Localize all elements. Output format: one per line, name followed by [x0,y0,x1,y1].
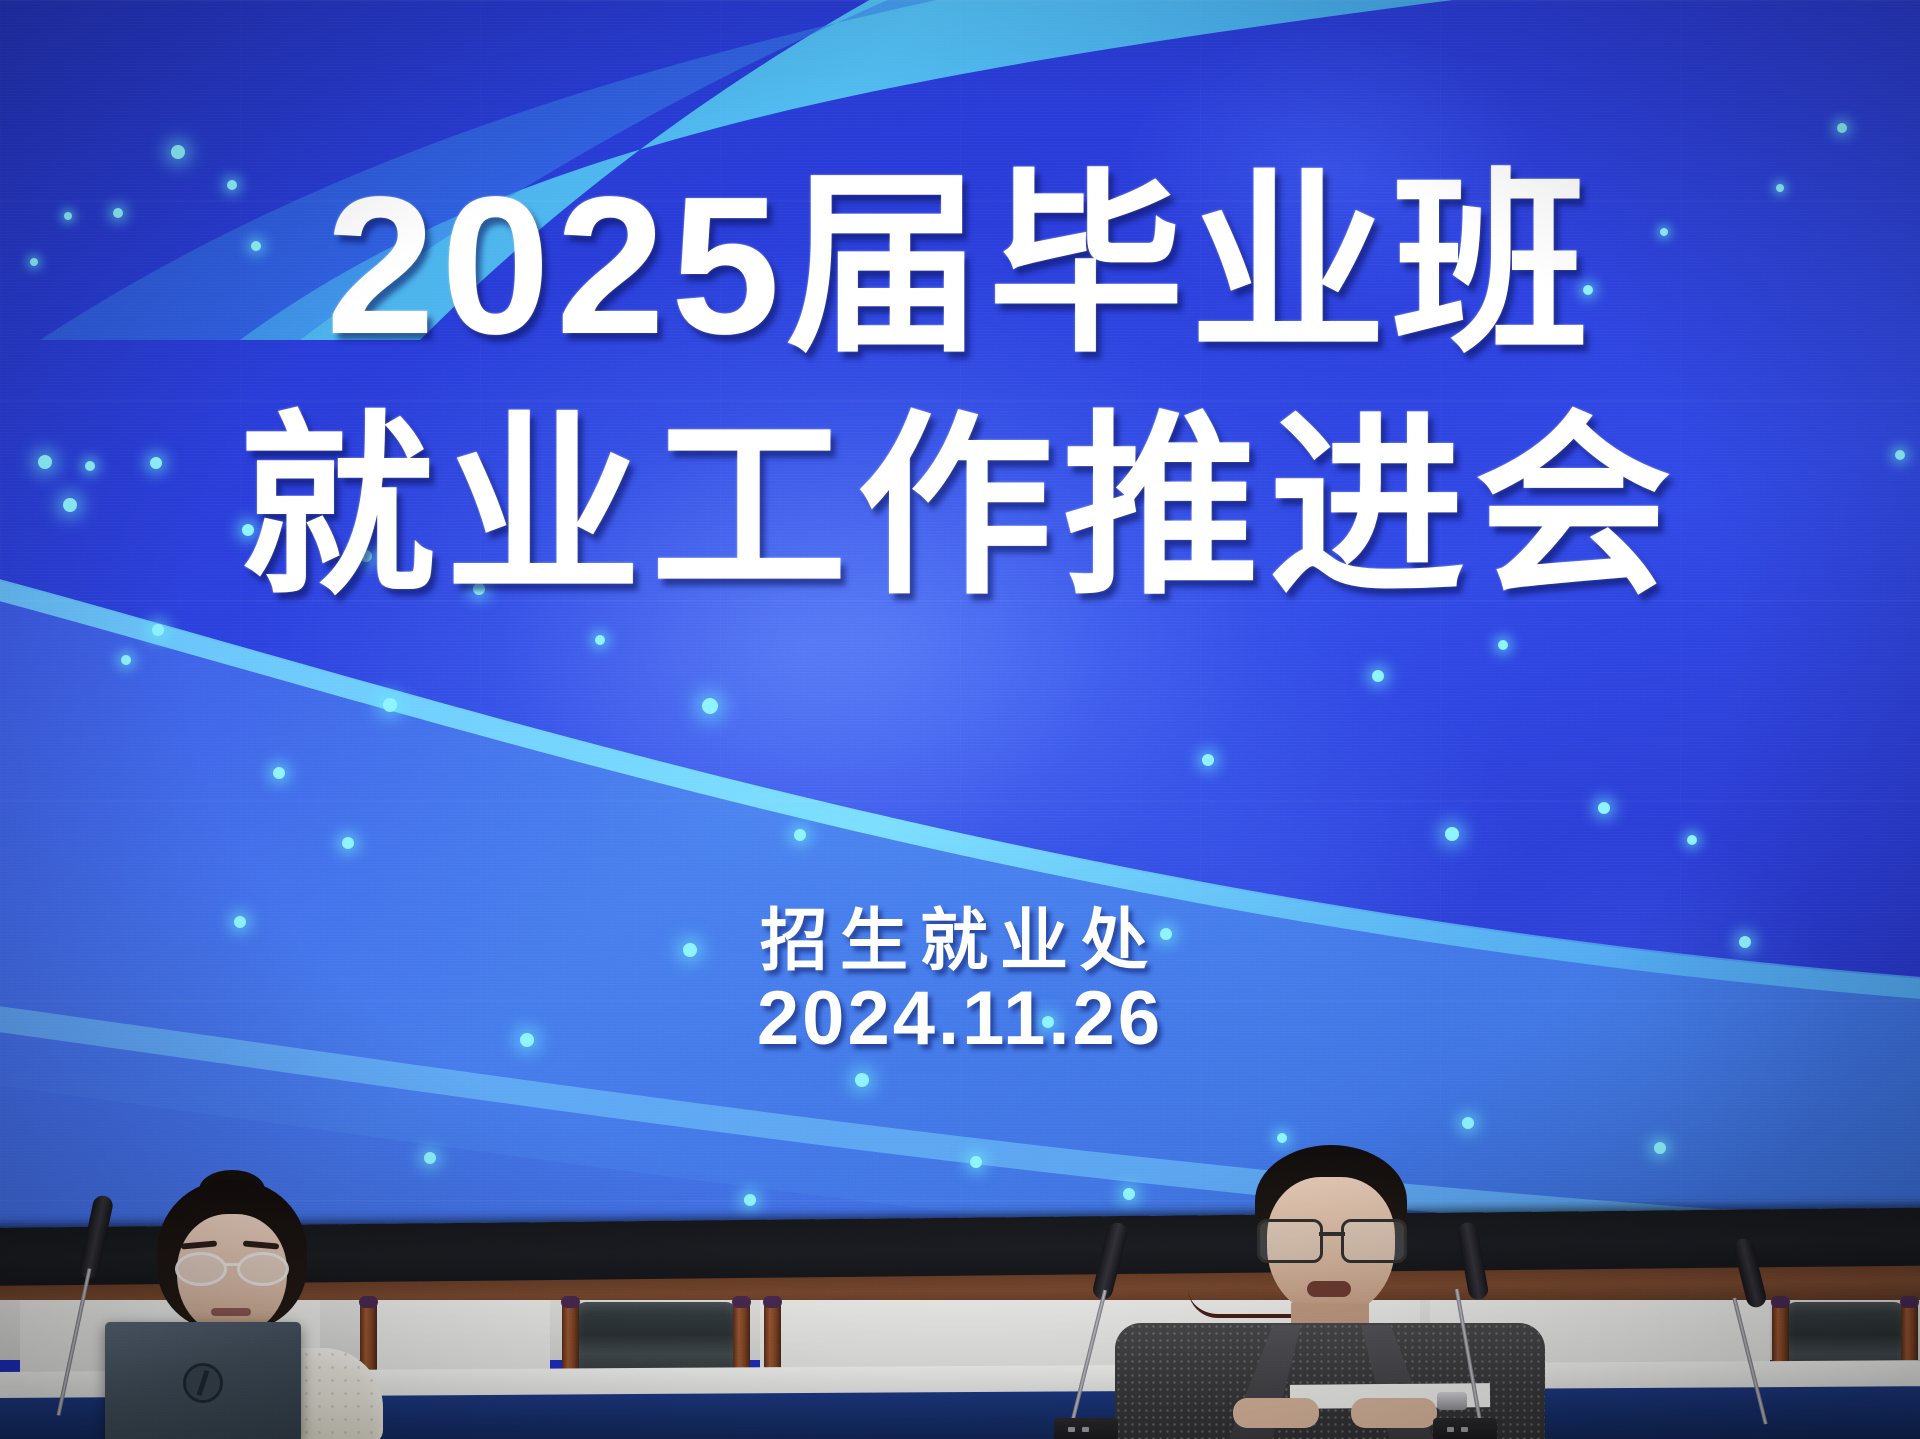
lens-right [1341,1219,1407,1263]
microphone-left-edge [30,1195,150,1439]
screen-title-block: 2025届毕业班 就业工作推进会 招生就业处 2024.11.26 [0,0,1920,1248]
lens-left [175,1252,227,1286]
lens-right [237,1252,289,1286]
subtitle-date: 2024.11.26 [0,975,1920,1062]
chair-frame-cap [732,1296,751,1308]
mouth [1307,1281,1351,1297]
hand-left [1233,1398,1319,1428]
mic-stem [56,1268,91,1416]
mic-stem [1455,1289,1484,1430]
mic-head [1456,1221,1489,1301]
mic-base [1433,1418,1497,1439]
mic-indicator-icon [1082,1427,1089,1432]
eyeglasses [1257,1219,1407,1259]
mic-head [77,1194,114,1280]
photograph-canvas: 2025届毕业班 就业工作推进会 招生就业处 2024.11.26 [0,0,1920,1439]
mic-stem [1732,1297,1767,1424]
mic-indicator-icon [1068,1427,1075,1432]
title-line-1: 2025届毕业班 [0,168,1920,364]
mic-indicator-icon [1447,1427,1454,1432]
mic-base [1054,1418,1118,1439]
microphone-speaker-left [1042,1222,1182,1439]
subtitle-organization: 招生就业处 [0,885,1920,984]
glasses-bridge [1319,1232,1345,1236]
mic-head [1732,1237,1768,1310]
glasses-bridge [225,1263,241,1266]
mic-indicator-icon [1461,1427,1468,1432]
mic-stem [1069,1290,1107,1429]
lens-left [1257,1219,1323,1263]
chair-frame-cap [1900,1296,1919,1308]
mouth [211,1308,251,1316]
microphone-right-edge [1700,1238,1820,1439]
chair-frame-cap [763,1296,782,1308]
mic-head [1091,1221,1129,1302]
chair-frame-cap [561,1296,580,1308]
eyeglasses [173,1252,291,1282]
title-line-2: 就业工作推进会 [0,410,1920,606]
microphone-speaker-right [1405,1222,1545,1439]
dell-logo-icon [183,1363,223,1403]
